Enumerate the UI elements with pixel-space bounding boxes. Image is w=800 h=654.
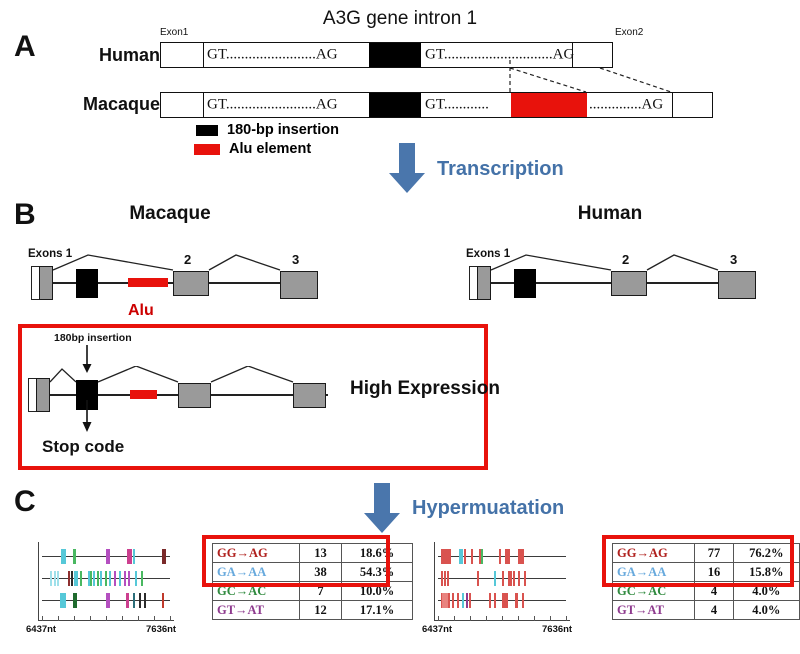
legend-swatch-black-icon: [196, 125, 218, 136]
panel-letter-a: A: [14, 32, 36, 62]
mutation-percent: 17.1%: [342, 601, 413, 620]
axis-tick: [74, 616, 75, 621]
mutation-tick: [494, 593, 496, 608]
gene-model-human: Exons 1 2 3: [458, 250, 800, 310]
high-expression-label: High Expression: [350, 378, 500, 400]
mutation-tick: [97, 571, 99, 586]
mutation-tick: [135, 571, 137, 586]
mutation-trace-left: [38, 540, 188, 630]
mutation-tick: [522, 549, 524, 564]
mutation-tick: [462, 593, 464, 608]
mutation-tick: [494, 571, 496, 586]
mutation-count: 12: [300, 601, 342, 620]
gene-model-macaque: Exons 1 2 3: [18, 250, 368, 310]
mutation-tick: [105, 571, 107, 586]
axis-tick: [518, 616, 519, 621]
connector-lines: [0, 60, 800, 100]
trace-left-yaxis: [38, 542, 39, 620]
alu-annotation-label: Alu: [128, 302, 154, 320]
highlight-box-right-table: [602, 535, 794, 587]
mutation-tick: [74, 549, 76, 564]
mutation-tick: [108, 549, 110, 564]
axis-tick: [550, 616, 551, 621]
mutation-tick: [93, 571, 95, 586]
mutation-tick: [477, 571, 479, 586]
mutation-tick: [441, 571, 443, 586]
species-title-human-b: Human: [520, 203, 700, 225]
mutation-tick: [499, 549, 501, 564]
mutation-tick: [109, 571, 111, 586]
mutation-tick: [130, 549, 132, 564]
mutation-tick: [133, 549, 135, 564]
mutation-tick: [124, 571, 126, 586]
mutation-tick: [518, 571, 520, 586]
axis-tick: [470, 616, 471, 621]
axis-tick: [502, 616, 503, 621]
table-row: GT→AT 4 4.0%: [613, 601, 800, 620]
mutation-tick: [80, 571, 82, 586]
mutation-tick: [100, 571, 102, 586]
species-title-macaque-b: Macaque: [80, 203, 260, 225]
arrow-down-icon-stopcode: [80, 400, 94, 432]
legend-item-insertion: 180-bp insertion: [196, 122, 339, 138]
mutation-tick: [68, 571, 70, 586]
mutation-tick: [464, 549, 466, 564]
mutation-tick: [461, 549, 463, 564]
scale-end-left: 7636nt: [146, 624, 176, 635]
splice-lines-human: [458, 250, 800, 310]
splice-lines-macaque: [18, 250, 368, 310]
legend-label-alu: Alu element: [229, 141, 311, 157]
exon1-caption: Exon1: [160, 27, 188, 38]
stop-code-label: Stop code: [42, 437, 124, 457]
mutation-tick: [75, 593, 77, 608]
down-arrow-icon-hypermutation: [360, 483, 404, 533]
axis-tick: [454, 616, 455, 621]
mutation-tick: [108, 593, 110, 608]
mutation-count: 4: [695, 601, 733, 620]
mutation-tick: [164, 549, 166, 564]
mutation-tick: [447, 571, 449, 586]
mutation-tick: [516, 593, 518, 608]
mutation-tick: [127, 593, 129, 608]
transcription-label: Transcription: [437, 158, 564, 181]
mutation-tick: [508, 549, 510, 564]
axis-tick: [42, 616, 43, 621]
legend-swatch-red-icon: [194, 144, 220, 155]
mutation-percent: 4.0%: [733, 601, 799, 620]
mutation-tick: [448, 593, 450, 608]
axis-tick: [438, 616, 439, 621]
trace-right-yaxis: [434, 542, 435, 620]
legend-label-insertion: 180-bp insertion: [227, 122, 339, 138]
mutation-tick: [444, 571, 446, 586]
hypermutation-label: Hypermuatation: [412, 497, 564, 520]
mutation-tick: [162, 593, 164, 608]
axis-tick: [90, 616, 91, 621]
mutation-tick: [502, 571, 504, 586]
mutation-tick: [513, 571, 515, 586]
highlight-box-left-table: [202, 535, 390, 587]
mutation-tick: [522, 593, 524, 608]
insertion-annotation-label: 180bp insertion: [54, 332, 132, 344]
mutation-label: GT→AT: [613, 601, 695, 620]
axis-tick: [106, 616, 107, 621]
mutation-tick: [469, 593, 471, 608]
mutation-label: GT→AT: [213, 601, 300, 620]
mutation-tick: [471, 549, 473, 564]
legend-item-alu: Alu element: [194, 141, 311, 157]
mutation-tick: [119, 571, 121, 586]
axis-tick: [566, 616, 567, 621]
axis-tick: [534, 616, 535, 621]
scale-start-left: 6437nt: [26, 624, 56, 635]
mutation-tick: [449, 549, 451, 564]
axis-tick: [154, 616, 155, 621]
axis-tick: [122, 616, 123, 621]
mutation-tick: [144, 593, 146, 608]
axis-tick: [486, 616, 487, 621]
scale-start-right: 6437nt: [422, 624, 452, 635]
mutation-tick: [90, 571, 92, 586]
panel-letter-c: C: [14, 487, 36, 517]
mutation-tick: [452, 593, 454, 608]
mutation-tick: [141, 571, 143, 586]
figure-title: A3G gene intron 1: [250, 8, 550, 30]
exon2-caption: Exon2: [615, 27, 643, 38]
mutation-tick: [54, 571, 56, 586]
scale-end-right: 7636nt: [542, 624, 572, 635]
down-arrow-icon-transcription: [385, 143, 429, 193]
mutation-tick: [57, 571, 59, 586]
axis-tick: [58, 616, 59, 621]
mutation-tick: [64, 549, 66, 564]
mutation-tick: [128, 571, 130, 586]
mutation-tick: [114, 571, 116, 586]
axis-tick: [170, 616, 171, 621]
mutation-tick: [133, 593, 135, 608]
mutation-tick: [524, 571, 526, 586]
trace-right-row-1: [438, 556, 566, 557]
mutation-tick: [139, 593, 141, 608]
mutation-tick: [489, 593, 491, 608]
axis-tick: [138, 616, 139, 621]
mutation-tick: [506, 593, 508, 608]
mutation-tick: [76, 571, 78, 586]
table-row: GT→AT 12 17.1%: [213, 601, 413, 620]
mutation-tick: [50, 571, 52, 586]
panel-letter-b: B: [14, 200, 36, 230]
mutation-tick: [64, 593, 66, 608]
mutation-tick: [481, 549, 483, 564]
mutation-tick: [457, 593, 459, 608]
mutation-trace-right: [434, 540, 584, 630]
